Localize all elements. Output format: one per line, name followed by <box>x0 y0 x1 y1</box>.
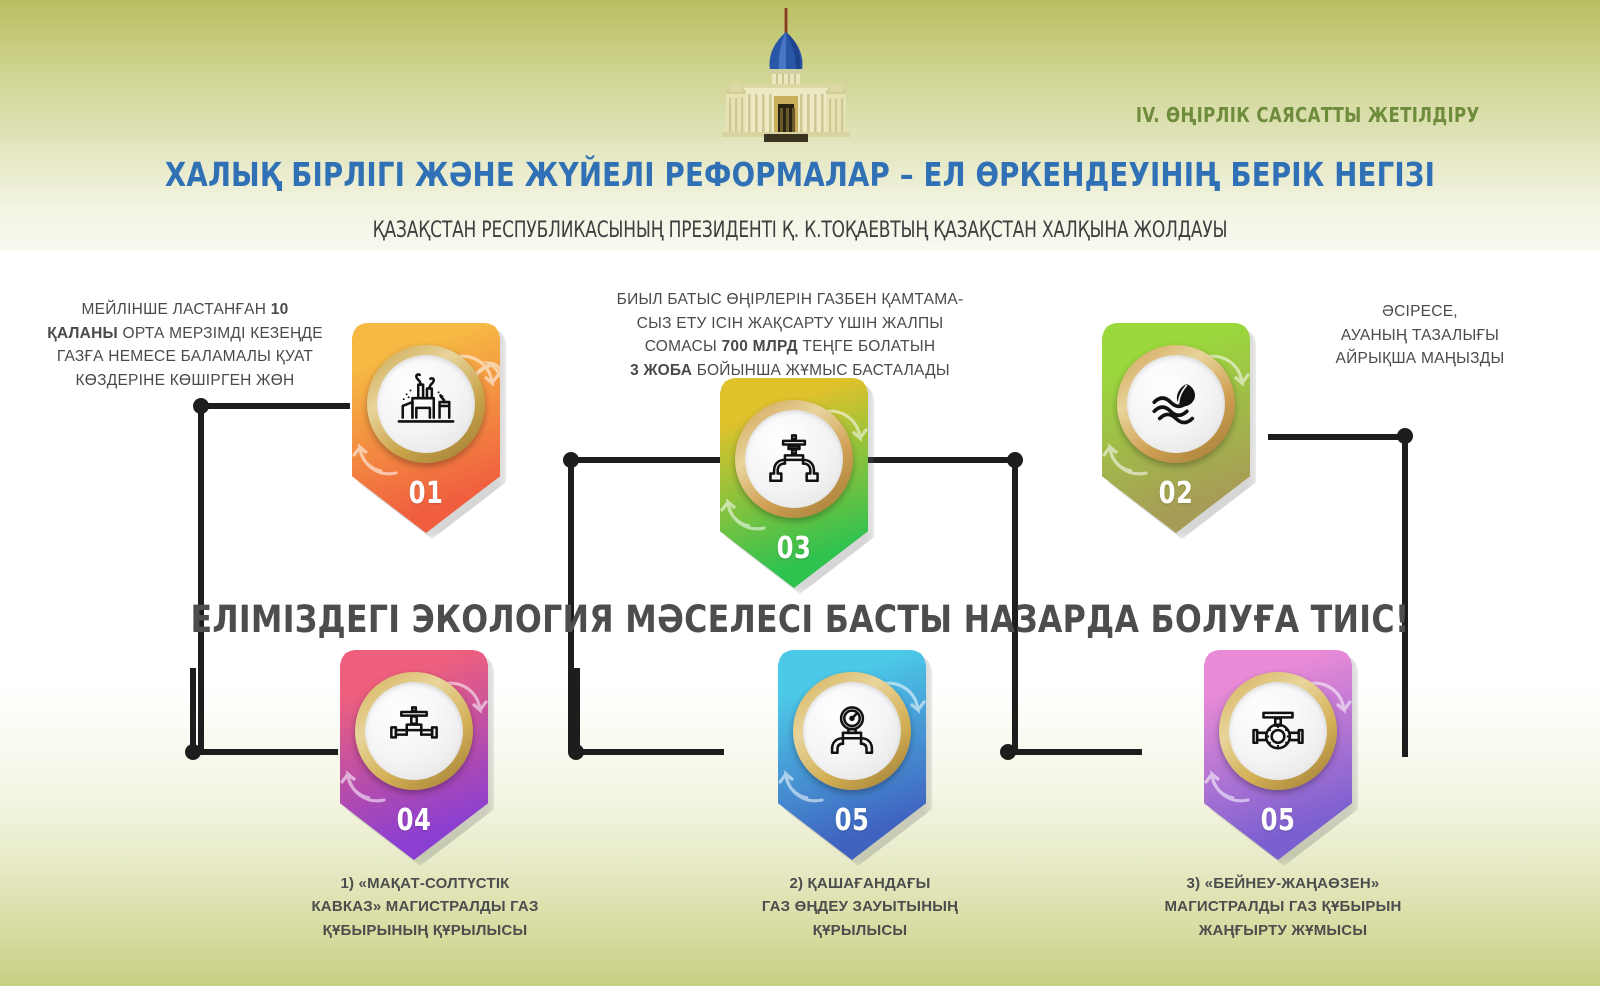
badge-number: 02 <box>1109 476 1242 511</box>
caption-2: 2) ҚАШАҒАНДАҒЫГАЗ ӨҢДЕУ ЗАУЫТЫНЫҢҚҰРЫЛЫС… <box>720 872 1000 942</box>
badge-icon-well <box>803 682 901 780</box>
caption-line: КАВКАЗ» МАГИСТРАЛДЫ ГАЗ <box>275 895 575 918</box>
connector-h-mid-bottom <box>574 749 724 755</box>
connector-dot-mid-left <box>563 452 579 468</box>
badge-02[interactable]: 02 <box>1102 323 1250 533</box>
badge-01[interactable]: 01 <box>352 323 500 533</box>
description-line: АУАНЫҢ ТАЗАЛЫҒЫ <box>1270 324 1570 348</box>
body-text: АУАНЫҢ ТАЗАЛЫҒЫ <box>1341 327 1499 344</box>
connector-dot-mid-right <box>1007 452 1023 468</box>
body-text: СЫЗ ЕТУ ІСІН ЖАҚСАРТУ ҮШІН ЖАЛПЫ <box>637 315 944 332</box>
page-title: ХАЛЫҚ БІРЛІГІ ЖӘНЕ ЖҮЙЕЛІ РЕФОРМАЛАР – Е… <box>56 155 1544 194</box>
badge-icon-well <box>1127 355 1225 453</box>
body-text: СОМАСЫ <box>645 338 722 355</box>
banner-headline: ЕЛІМІЗДЕГІ ЭКОЛОГИЯ МӘСЕЛЕСІ БАСТЫ НАЗАР… <box>40 598 1560 641</box>
connector-dot-right-top <box>1397 428 1413 444</box>
caption-line: 2) ҚАШАҒАНДАҒЫ <box>720 872 1000 895</box>
body-text: АЙРЫҚША МАҢЫЗДЫ <box>1336 350 1505 367</box>
caption-line: 1) «МАҚАТ-СОЛТҮСТІК <box>275 872 575 895</box>
description-right: ӘСІРЕСЕ,АУАНЫҢ ТАЗАЛЫҒЫАЙРЫҚША МАҢЫЗДЫ <box>1270 300 1570 371</box>
body-text: БОЙЫНША ЖҰМЫС БАСТАЛАДЫ <box>692 362 950 379</box>
badge-05-kashagan[interactable]: 05 <box>778 650 926 860</box>
description-line: СЫЗ ЕТУ ІСІН ЖАҚСАРТУ ҮШІН ЖАЛПЫ <box>595 312 985 336</box>
connector-h-right-bottom <box>1012 749 1142 755</box>
body-text: БИЫЛ БАТЫС ӨҢІРЛЕРІН ГАЗБЕН ҚАМТАМА- <box>617 291 964 308</box>
body-text: ОРТА МЕРЗІМДІ КЕЗЕҢДЕ <box>118 325 323 342</box>
badge-icon-well <box>365 682 463 780</box>
connector-h-left-top <box>200 403 350 409</box>
badge-04[interactable]: 04 <box>340 650 488 860</box>
body-text: МЕЙЛІНШЕ ЛАСТАНҒАН <box>82 301 271 318</box>
body-text: КӨЗДЕРІНЕ КӨШІРГЕН ЖӨН <box>76 372 295 389</box>
badge-ring <box>735 400 853 518</box>
gas-valve-icon <box>765 430 823 488</box>
badge-ring <box>1117 345 1235 463</box>
connector-h-right-top <box>1268 434 1408 440</box>
badge-ring <box>367 345 485 463</box>
pressure-gauge-pipe-icon <box>823 702 881 760</box>
badge-ring <box>1219 672 1337 790</box>
water-leaf-icon <box>1147 375 1205 433</box>
page-subtitle: ҚАЗАҚСТАН РЕСПУБЛИКАСЫНЫҢ ПРЕЗИДЕНТІ Қ. … <box>112 218 1488 243</box>
emphasis-text: 10 <box>271 301 289 318</box>
connector-dot-left-top <box>193 398 209 414</box>
description-line: СОМАСЫ 700 МЛРД ТЕҢГЕ БОЛАТЫН <box>595 335 985 359</box>
badge-icon-well <box>745 410 843 508</box>
ball-valve-icon <box>1249 702 1307 760</box>
badge-number: 03 <box>727 531 860 566</box>
badge-ring <box>355 672 473 790</box>
description-line: ГАЗҒА НЕМЕСЕ БАЛАМАЛЫ ҚУАТ <box>20 345 350 369</box>
caption-3: 3) «БЕЙНЕУ-ЖАҢАӨЗЕН»МАГИСТРАЛДЫ ГАЗ ҚҰБЫ… <box>1128 872 1438 942</box>
badge-number: 04 <box>347 803 480 838</box>
connector-v-left-stub <box>190 668 196 752</box>
body-text: ТЕҢГЕ БОЛАТЫН <box>798 338 935 355</box>
caption-line: ҚҰРЫЛЫСЫ <box>720 919 1000 942</box>
description-line: МЕЙЛІНШЕ ЛАСТАНҒАН 10 <box>20 298 350 322</box>
emphasis-text: 700 МЛРД <box>722 338 798 355</box>
connector-h-mid-right <box>868 457 1018 463</box>
connector-v-left <box>198 406 204 751</box>
badge-ring <box>793 672 911 790</box>
emphasis-text: 3 ЖОБА <box>630 362 692 379</box>
badge-03[interactable]: 03 <box>720 378 868 588</box>
connector-v-right <box>1402 437 1408 757</box>
caption-1: 1) «МАҚАТ-СОЛТҮСТІККАВКАЗ» МАГИСТРАЛДЫ Г… <box>275 872 575 942</box>
description-line: БИЫЛ БАТЫС ӨҢІРЛЕРІН ГАЗБЕН ҚАМТАМА- <box>595 288 985 312</box>
emphasis-text: ҚАЛАНЫ <box>47 325 118 342</box>
description-left: МЕЙЛІНШЕ ЛАСТАНҒАН 10ҚАЛАНЫ ОРТА МЕРЗІМД… <box>20 298 350 392</box>
badge-icon-well <box>377 355 475 453</box>
akorda-palace-icon <box>686 8 886 148</box>
connector-h-mid-left <box>570 457 720 463</box>
badge-icon-well <box>1229 682 1327 780</box>
caption-line: ЖАҢҒЫРТУ ЖҰМЫСЫ <box>1128 919 1438 942</box>
connector-h-left-bottom <box>198 749 338 755</box>
body-text: ӘСІРЕСЕ, <box>1382 303 1458 320</box>
connector-v-mid-stub <box>574 668 580 752</box>
gate-valve-icon <box>385 702 443 760</box>
body-text: ГАЗҒА НЕМЕСЕ БАЛАМАЛЫ ҚУАТ <box>57 348 313 365</box>
caption-line: 3) «БЕЙНЕУ-ЖАҢАӨЗЕН» <box>1128 872 1438 895</box>
caption-line: ҚҰБЫРЫНЫҢ ҚҰРЫЛЫСЫ <box>275 919 575 942</box>
description-line: ӘСІРЕСЕ, <box>1270 300 1570 324</box>
factory-pollution-icon <box>395 373 457 435</box>
caption-line: МАГИСТРАЛДЫ ГАЗ ҚҰБЫРЫН <box>1128 895 1438 918</box>
badge-number: 05 <box>1211 803 1344 838</box>
badge-number: 01 <box>359 476 492 511</box>
badge-05-beineu[interactable]: 05 <box>1204 650 1352 860</box>
description-line: КӨЗДЕРІНЕ КӨШІРГЕН ЖӨН <box>20 369 350 393</box>
description-line: ҚАЛАНЫ ОРТА МЕРЗІМДІ КЕЗЕҢДЕ <box>20 322 350 346</box>
badge-number: 05 <box>785 803 918 838</box>
description-middle: БИЫЛ БАТЫС ӨҢІРЛЕРІН ГАЗБЕН ҚАМТАМА-СЫЗ … <box>595 288 985 382</box>
caption-line: ГАЗ ӨҢДЕУ ЗАУЫТЫНЫҢ <box>720 895 1000 918</box>
description-line: АЙРЫҚША МАҢЫЗДЫ <box>1270 347 1570 371</box>
section-label: IV. ӨҢІРЛІК САЯСАТТЫ ЖЕТІЛДІРУ <box>1136 103 1480 127</box>
connector-dot-right-bottom <box>1000 744 1016 760</box>
